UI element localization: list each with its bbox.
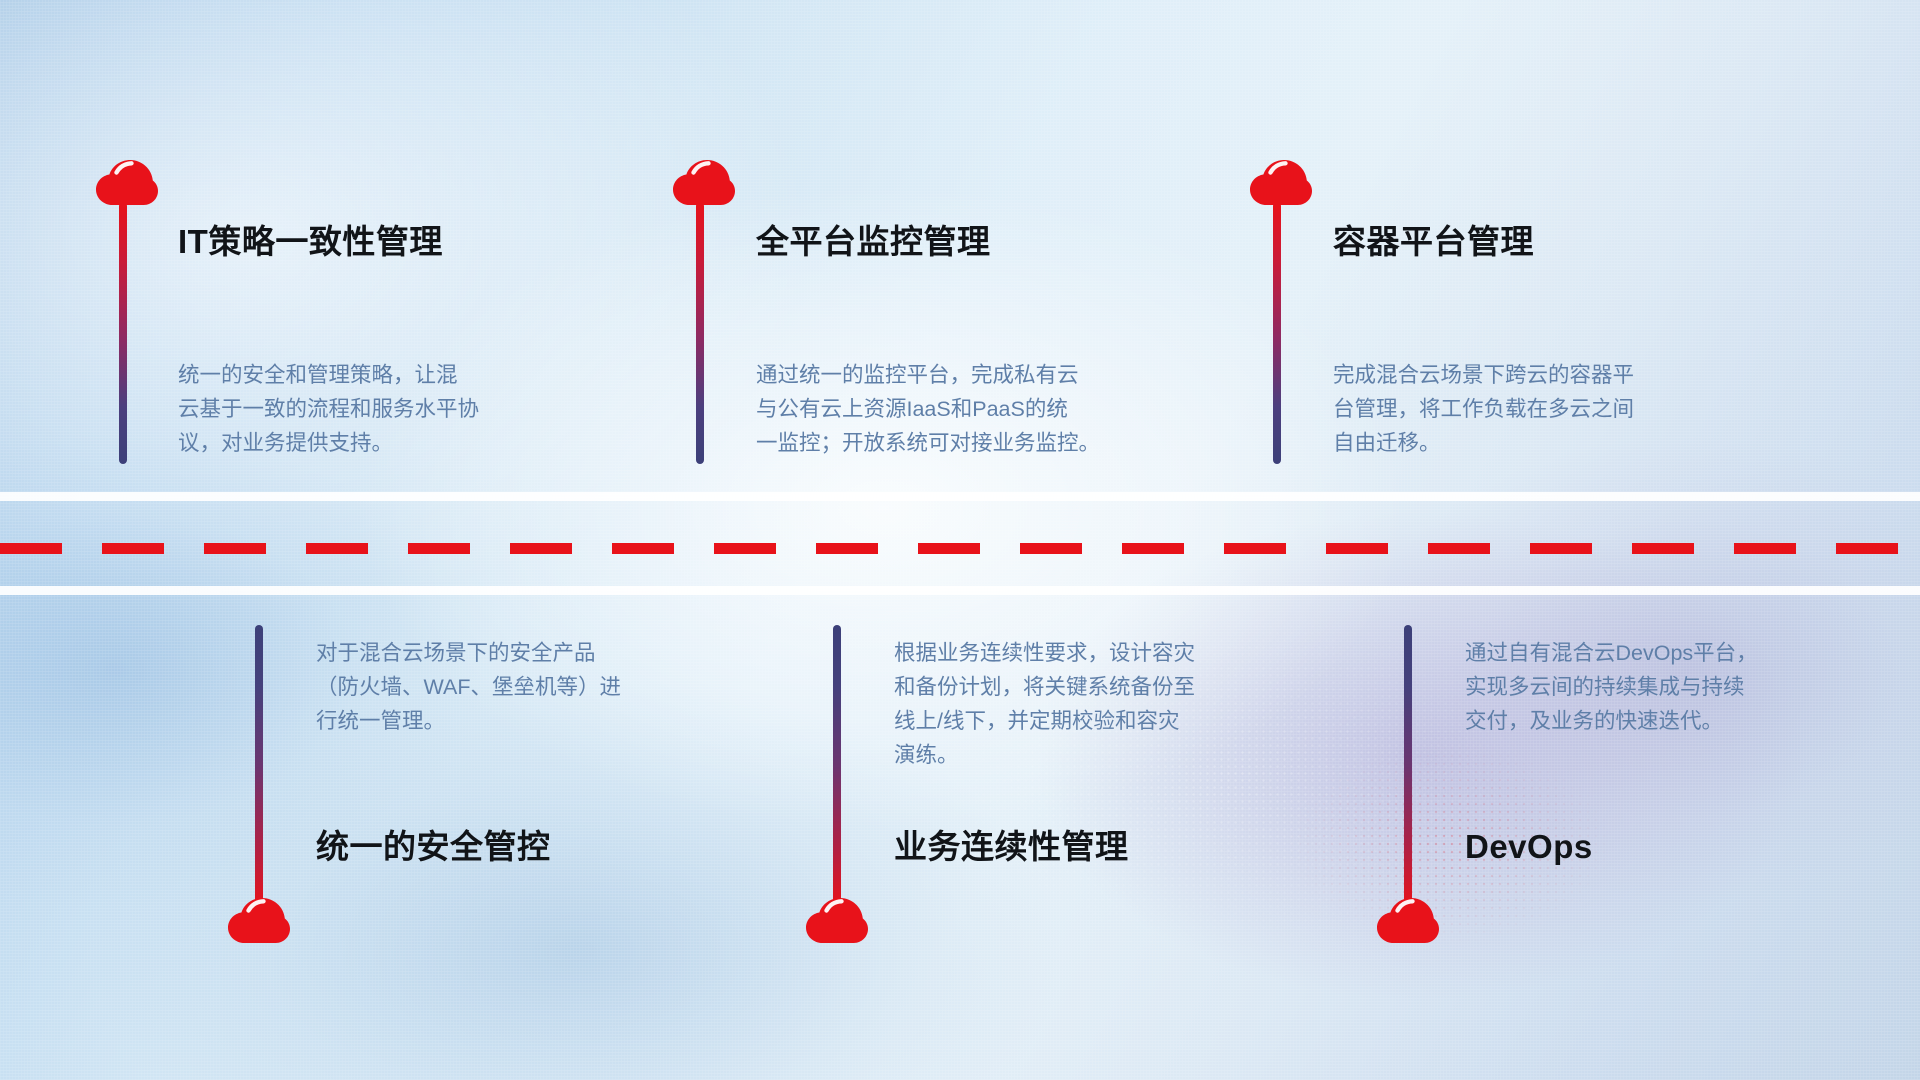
section-title: 统一的安全管控 — [316, 830, 551, 863]
cloud-icon — [228, 898, 290, 944]
connector-stem — [696, 202, 704, 464]
cloud-icon — [1377, 898, 1439, 944]
section-title: 容器平台管理 — [1333, 225, 1534, 258]
cloud-icon — [96, 160, 158, 206]
section-description: 通过自有混合云DevOps平台， 实现多云间的持续集成与持续 交付，及业务的快速… — [1465, 636, 1885, 738]
infographic-canvas: IT策略一致性管理 统一的安全和管理策略，让混 云基于一致的流程和服务水平协 议… — [0, 0, 1920, 1080]
section-title: 全平台监控管理 — [756, 225, 991, 258]
section-description: 完成混合云场景下跨云的容器平 台管理，将工作负载在多云之间 自由迁移。 — [1333, 358, 1763, 460]
section-title: DevOps — [1465, 830, 1593, 863]
section-description: 对于混合云场景下的安全产品 （防火墙、WAF、堡垒机等）进 行统一管理。 — [316, 636, 736, 738]
connector-stem — [1404, 625, 1412, 907]
section-description: 根据业务连续性要求，设计容灾 和备份计划，将关键系统备份至 线上/线下，并定期校… — [894, 636, 1314, 772]
divider-rule-top — [0, 492, 1920, 501]
connector-stem — [833, 625, 841, 907]
connector-stem — [255, 625, 263, 907]
divider-dashed-line — [0, 543, 1920, 554]
cloud-icon — [1250, 160, 1312, 206]
divider-rule-bottom — [0, 586, 1920, 595]
section-description: 通过统一的监控平台，完成私有云 与公有云上资源IaaS和PaaS的统 一监控；开… — [756, 358, 1196, 460]
connector-stem — [119, 202, 127, 464]
section-description: 统一的安全和管理策略，让混 云基于一致的流程和服务水平协 议，对业务提供支持。 — [178, 358, 608, 460]
cloud-icon — [806, 898, 868, 944]
section-title: 业务连续性管理 — [894, 830, 1129, 863]
connector-stem — [1273, 202, 1281, 464]
cloud-icon — [673, 160, 735, 206]
section-title: IT策略一致性管理 — [178, 225, 443, 258]
